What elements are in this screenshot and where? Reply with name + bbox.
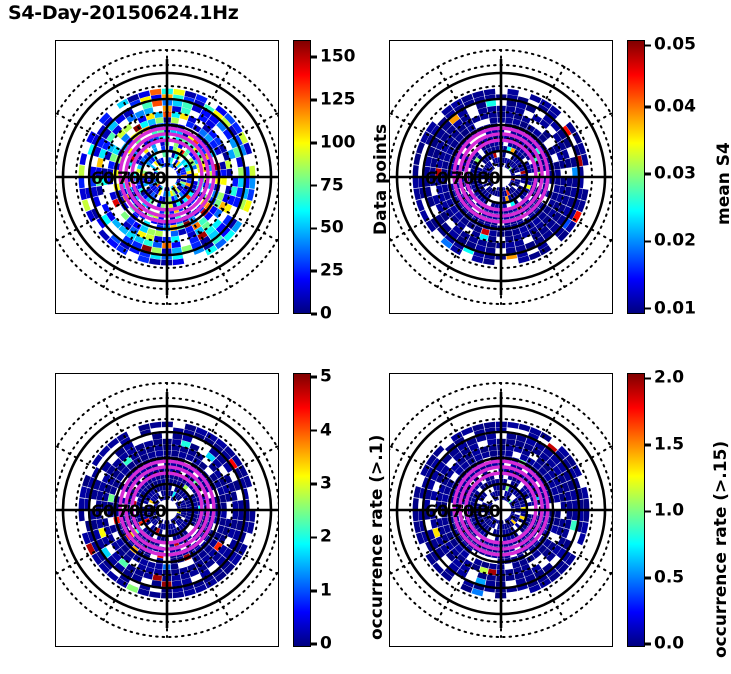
cbar-tick-dash (311, 376, 317, 379)
colorbar-title-top-left: Data points (371, 124, 391, 235)
colorbar-gradient-top-left (294, 41, 310, 313)
cbar-tick-label: 0.0 (654, 636, 684, 653)
panel-top-right[interactable]: 607080 (389, 40, 613, 314)
cbar-tick-dash (311, 270, 317, 273)
cbar-tick-dash (311, 643, 317, 646)
svg-text:80: 80 (477, 169, 501, 189)
figure-canvas: S4-Day-20150624.1Hz 607080 0 25 50 75 10… (0, 0, 731, 674)
cbar-tick-label: 0.03 (654, 166, 696, 183)
colorbar-title-bottom-right: occurrence rate (>.15) (711, 441, 731, 658)
radial-tick-labels: 607080 (425, 502, 501, 522)
cbar-tick-label: 50 (320, 220, 344, 237)
cbar-tick-dash (645, 444, 651, 447)
radial-tick-labels: 607080 (91, 169, 167, 189)
colorbar-gradient-bottom-left (294, 374, 310, 646)
colorbar-ticks-bottom-left: 0 1 2 3 4 5 (311, 373, 371, 647)
cbar-tick-label: 1 (320, 582, 332, 599)
polar-plot-bottom-right: 607080 (389, 373, 613, 647)
cbar-tick-label: 0 (320, 636, 332, 653)
cbar-tick-label: 2 (320, 529, 332, 546)
colorbar-gradient-bottom-right (628, 374, 644, 646)
cbar-tick-label: 2.0 (654, 370, 684, 387)
polar-plot-top-right: 607080 (389, 40, 613, 314)
colorbar-top-right[interactable] (627, 40, 645, 314)
colorbar-title-bottom-left: occurrence rate (>.1) (367, 435, 387, 640)
cbar-tick-dash (645, 106, 651, 109)
svg-text:70: 70 (117, 502, 141, 522)
cbar-tick-label: 0.02 (654, 233, 696, 250)
cbar-tick-dash (645, 44, 651, 47)
svg-text:60: 60 (91, 502, 115, 522)
cbar-tick-dash (311, 184, 317, 187)
crosshair-axes (55, 59, 279, 295)
svg-text:70: 70 (451, 169, 475, 189)
cbar-tick-label: 100 (320, 134, 356, 151)
cbar-tick-dash (311, 590, 317, 593)
cbar-tick-dash (645, 240, 651, 243)
cbar-tick-dash (311, 227, 317, 230)
colorbar-gradient-top-right (628, 41, 644, 313)
cbar-tick-dash (311, 536, 317, 539)
cbar-tick-label: 5 (320, 369, 332, 386)
cbar-tick-label: 0.01 (654, 300, 696, 317)
cbar-tick-label: 0.04 (654, 99, 696, 116)
cbar-tick-label: 0.05 (654, 37, 696, 54)
cbar-tick-dash (645, 307, 651, 310)
cbar-tick-label: 125 (320, 91, 356, 108)
colorbar-title-top-right: mean S4 (714, 142, 731, 225)
cbar-tick-dash (311, 429, 317, 432)
cbar-tick-label: 75 (320, 177, 344, 194)
cbar-tick-label: 0 (320, 306, 332, 323)
cbar-tick-label: 4 (320, 422, 332, 439)
crosshair-axes (389, 59, 613, 295)
polar-plot-top-left: 607080 (55, 40, 279, 314)
svg-text:70: 70 (451, 502, 475, 522)
colorbar-ticks-top-left: 0 25 50 75 100 125 150 (311, 40, 371, 314)
colorbar-ticks-top-right: 0.01 0.02 0.03 0.04 0.05 (645, 40, 705, 314)
cbar-tick-label: 1.5 (654, 436, 684, 453)
cbar-tick-dash (311, 141, 317, 144)
page-title: S4-Day-20150624.1Hz (8, 2, 239, 24)
crosshair-axes (55, 392, 279, 628)
cbar-tick-dash (645, 173, 651, 176)
polar-plot-bottom-left: 607080 (55, 373, 279, 647)
panel-bottom-left[interactable]: 607080 (55, 373, 279, 647)
svg-text:80: 80 (143, 169, 167, 189)
cbar-tick-dash (311, 56, 317, 59)
radial-tick-labels: 607080 (425, 169, 501, 189)
cbar-tick-dash (311, 483, 317, 486)
panel-bottom-right[interactable]: 607080 (389, 373, 613, 647)
cbar-tick-dash (645, 377, 651, 380)
svg-text:80: 80 (477, 502, 501, 522)
cbar-tick-label: 0.5 (654, 569, 684, 586)
cbar-tick-dash (645, 510, 651, 513)
colorbar-bottom-left[interactable] (293, 373, 311, 647)
svg-text:60: 60 (425, 502, 449, 522)
colorbar-bottom-right[interactable] (627, 373, 645, 647)
colorbar-ticks-bottom-right: 0.0 0.5 1.0 1.5 2.0 (645, 373, 705, 647)
svg-text:60: 60 (91, 169, 115, 189)
cbar-tick-dash (311, 313, 317, 316)
panel-top-left[interactable]: 607080 (55, 40, 279, 314)
svg-text:80: 80 (143, 502, 167, 522)
cbar-tick-label: 3 (320, 475, 332, 492)
cbar-tick-label: 1.0 (654, 503, 684, 520)
colorbar-top-left[interactable] (293, 40, 311, 314)
svg-text:70: 70 (117, 169, 141, 189)
radial-tick-labels: 607080 (91, 502, 167, 522)
cbar-tick-label: 150 (320, 49, 356, 66)
cbar-tick-dash (645, 577, 651, 580)
cbar-tick-dash (645, 643, 651, 646)
cbar-tick-label: 25 (320, 263, 344, 280)
cbar-tick-dash (311, 99, 317, 102)
crosshair-axes (389, 392, 613, 628)
svg-text:60: 60 (425, 169, 449, 189)
